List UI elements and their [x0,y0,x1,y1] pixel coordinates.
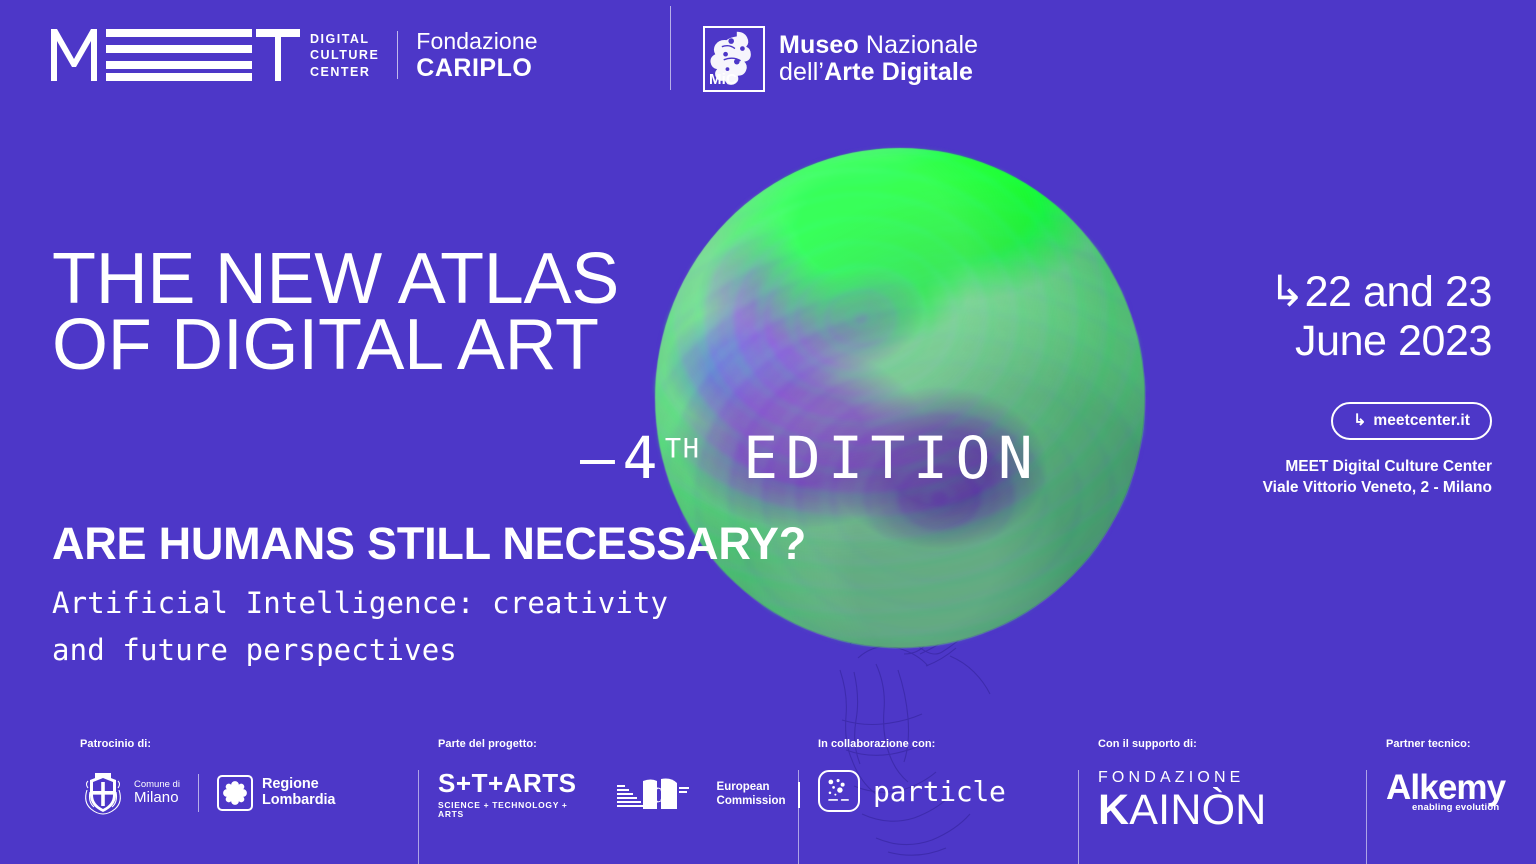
tagline: Artificial Intelligence: creativity and … [52,580,668,674]
footer-group-collaborazione: In collaborazione con: [818,728,1078,864]
edition-ordinal-suffix: TH [665,434,701,465]
meet-subtitle-line1: DIGITAL [310,31,379,48]
poster-canvas: DIGITAL CULTURE CENTER Fondazione CARIPL… [0,0,1536,864]
particle-wordmark: particle [873,775,1006,808]
fondazione-cariplo-logo[interactable]: Fondazione CARIPLO [416,28,537,83]
page-title: THE NEW ATLAS OF DIGITAL ART [52,246,619,378]
meet-subtitle-line3: CENTER [310,64,379,81]
kainon-rest: AINÒN [1129,786,1266,834]
footer-label-collaborazione: In collaborazione con: [818,738,935,750]
website-url-label: meetcenter.it [1373,412,1470,430]
lombardia-rose-icon [217,775,253,811]
lombardia-rose-glyph [219,777,251,809]
header-divider-tall [670,6,671,90]
comune-di-milano-logo[interactable]: Comune di Milano [80,770,180,816]
footer-group-supporto: Con il supporto di: FONDAZIONE KAINÒN [1098,728,1366,864]
museo-word-nazionale: Nazionale [859,31,978,59]
starts-line2: SCIENCE + TECHNOLOGY + ARTS [438,801,577,819]
museo-line2: dell’Arte Digitale [779,59,978,87]
starts-logo[interactable]: S+T+ARTS SCIENCE + TECHNOLOGY + ARTS [438,770,577,819]
mic-label: MiC [709,71,737,88]
cariplo-line2: CARIPLO [416,54,537,83]
arrow-down-right-icon: ↳ [1353,411,1366,430]
eu-line2: Commission [717,795,786,809]
milano-crest-icon [80,770,126,816]
edition-word: EDITION [743,424,1040,492]
museo-word-dell: dell’ [779,58,824,86]
header-divider-small [397,31,398,79]
website-button[interactable]: ↳ meetcenter.it [1331,402,1492,440]
regione-line1: Regione [262,777,335,793]
milano-line2: Milano [134,790,180,806]
kainon-line2: KAINÒN [1098,789,1267,832]
iridescent-sphere [655,148,1145,648]
cariplo-line1: Fondazione [416,28,537,54]
particle-dots-glyph [820,772,858,810]
footer-mini-divider [198,774,199,812]
regione-line2: Lombardia [262,793,335,809]
museo-line1: Museo Nazionale [779,32,978,60]
event-info-block: ↳22 and 23 June 2023 ↳ meetcenter.it MEE… [1192,268,1492,498]
museo-wordmark: Museo Nazionale dell’Arte Digitale [779,32,978,87]
meet-letter-t-icon [256,29,300,81]
venue-address: MEET Digital Culture Center Viale Vittor… [1192,456,1492,498]
kainon-line1: FONDAZIONE [1098,770,1267,786]
museo-word-museo: Museo [779,31,859,59]
edition-number: —4 [580,424,665,492]
alkemy-logo[interactable]: Alkemy enabling evolution [1386,770,1505,813]
meet-bars-icon [106,29,252,81]
footer-label-supporto: Con il supporto di: [1098,738,1197,750]
alkemy-line2: enabling evolution [1412,803,1505,813]
event-dates: ↳22 and 23 June 2023 [1192,268,1492,366]
starts-line1: S+T+ARTS [438,770,577,797]
footer-label-patrocinio: Patrocinio di: [80,738,151,750]
fondazione-kainon-logo[interactable]: FONDAZIONE KAINÒN [1098,770,1267,832]
alkemy-line1: Alkemy [1386,770,1505,805]
subtitle-question: ARE HUMANS STILL NECESSARY? [52,518,806,570]
footer-label-partner-tecnico: Partner tecnico: [1386,738,1471,750]
arrow-down-right-icon: ↳ [1269,268,1305,316]
particle-logo[interactable]: particle [818,770,1006,812]
museo-nazionale-logo[interactable]: MiC Museo Nazionale dell’Arte Digitale [703,26,978,92]
kainon-initial: K [1098,786,1129,834]
milano-wordmark: Comune di Milano [134,780,180,806]
eu-flag-icon [617,777,709,813]
footer-group-patrocinio: Patrocinio di: [80,728,418,864]
sphere-shading [655,148,1145,648]
meet-subtitle-line2: CULTURE [310,47,379,64]
event-dates-line1: ↳22 and 23 [1192,268,1492,317]
footer-group-progetto: Parte del progetto: S+T+ARTS SCIENCE + T… [438,728,798,864]
meet-logo[interactable]: DIGITAL CULTURE CENTER Fondazione CARIPL… [48,28,538,83]
particle-icon [818,770,860,812]
museo-word-arte-digitale: Arte Digitale [824,58,973,86]
footer-sponsors: Patrocinio di: [0,728,1536,864]
event-dates-line2: June 2023 [1192,317,1492,366]
main-headline-block: THE NEW ATLAS OF DIGITAL ART [52,246,619,378]
event-dates-days: 22 and 23 [1305,268,1492,316]
meet-wordmark [48,29,298,81]
meet-subtitle: DIGITAL CULTURE CENTER [310,31,379,81]
footer-label-progetto: Parte del progetto: [438,738,537,750]
eu-wordmark: European Commission [717,781,786,808]
footer-divider-1 [418,770,419,864]
mic-ministry-icon: MiC [703,26,765,92]
european-commission-logo[interactable]: European Commission [617,777,800,813]
meet-letter-m-icon [48,29,100,81]
edition-label: —4TH EDITION [580,424,1040,492]
regione-wordmark: Regione Lombardia [262,777,335,809]
footer-divider-3 [1078,770,1079,864]
eu-line1: European [717,781,786,795]
footer-group-partner-tecnico: Partner tecnico: Alkemy enabling evoluti… [1386,728,1536,864]
footer-divider-4 [1366,770,1367,864]
header: DIGITAL CULTURE CENTER Fondazione CARIPL… [0,0,1536,120]
footer-divider-2 [798,770,799,864]
regione-lombardia-logo[interactable]: Regione Lombardia [217,775,335,811]
